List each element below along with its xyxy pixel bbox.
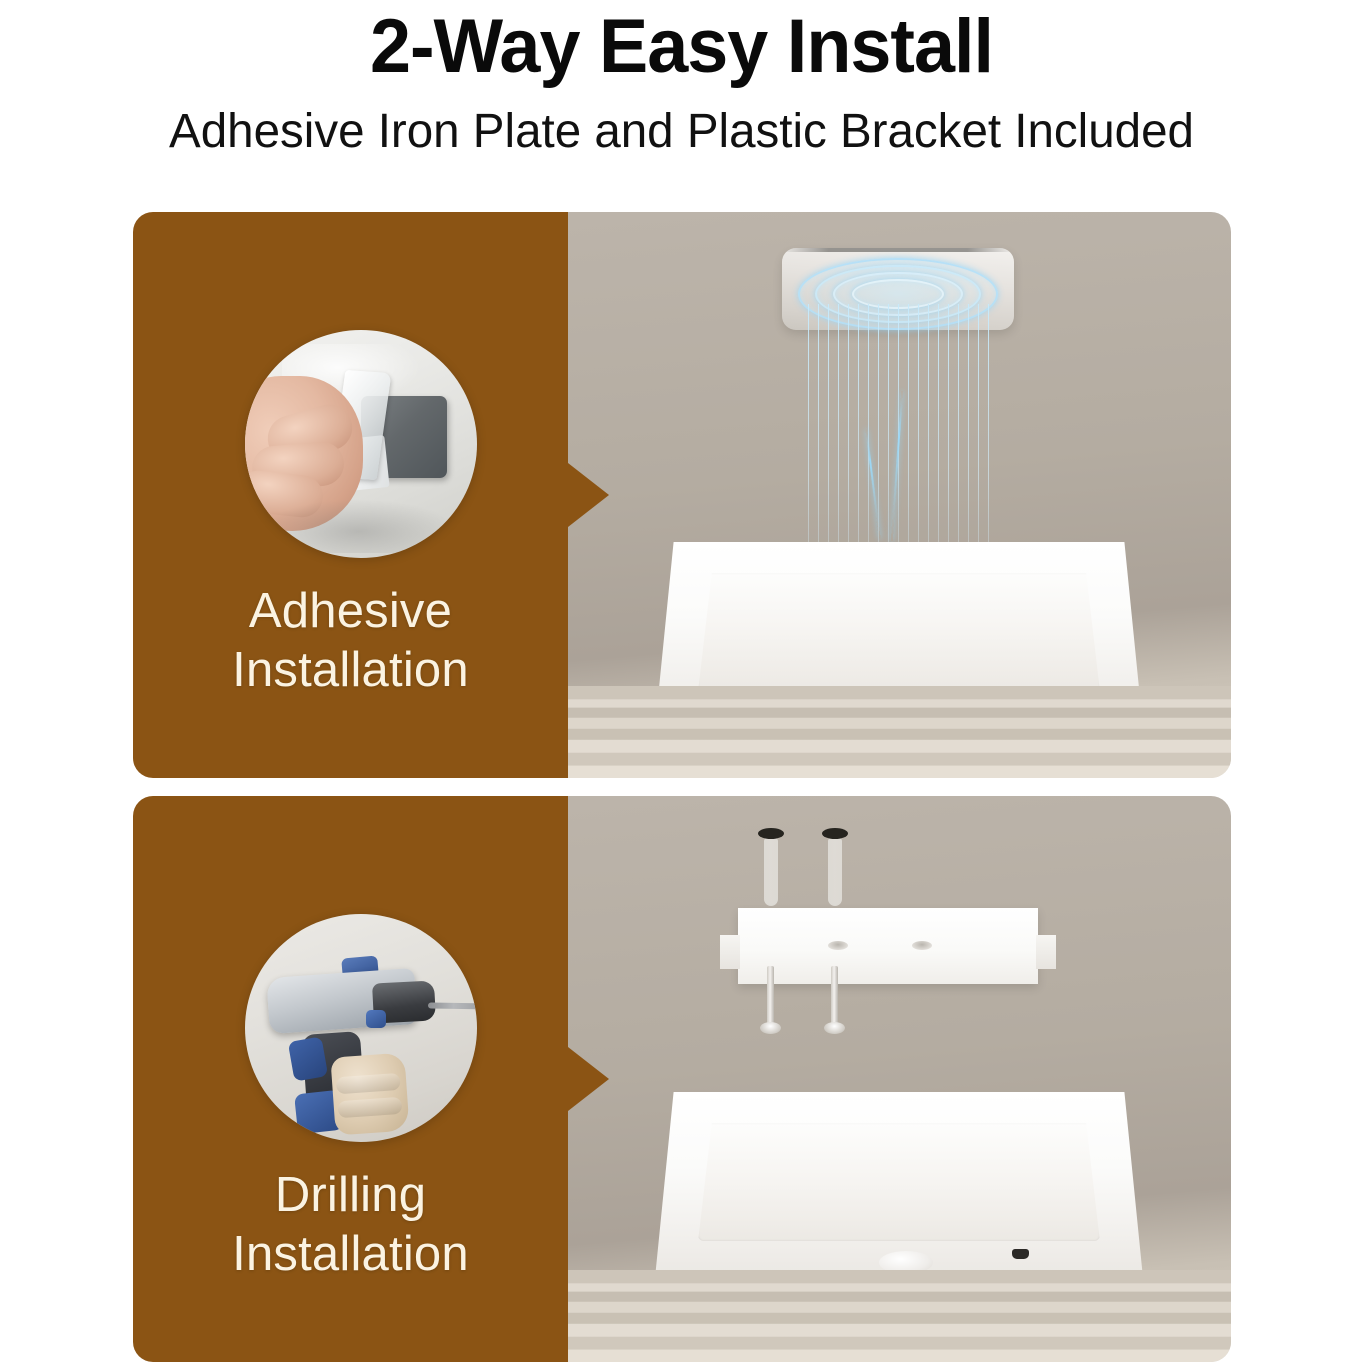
bracket-hole-right — [912, 941, 932, 950]
panel-adhesive-label-line1: Adhesive — [133, 582, 568, 641]
ceiling-crown-molding — [568, 1270, 1231, 1362]
infographic-header: 2-Way Easy Install Adhesive Iron Plate a… — [0, 0, 1363, 162]
page-subtitle: Adhesive Iron Plate and Plastic Bracket … — [7, 102, 1356, 162]
panel-adhesive-label-line2: Installation — [133, 641, 568, 700]
plastic-mounting-bracket — [738, 908, 1038, 984]
gloved-hand-graphic — [331, 1053, 410, 1136]
wall-anchor-left — [764, 838, 778, 906]
magnetic-arc-1 — [891, 391, 903, 541]
panel-drilling-scene — [568, 796, 1231, 1362]
panel-drilling-label-line1: Drilling — [133, 1166, 568, 1225]
arrow-right-icon — [568, 463, 609, 527]
wall-anchor-right — [828, 838, 842, 906]
hammer-drill-icon — [245, 914, 477, 1142]
panel-adhesive-scene — [568, 212, 1231, 778]
panel-drilling-left-block: Drilling Installation — [133, 796, 568, 1362]
drill-blue-accent-top — [366, 1010, 386, 1028]
panel-drilling-installation: Drilling Installation — [133, 796, 1231, 1362]
panel-drilling-label: Drilling Installation — [133, 1166, 568, 1284]
panel-drilling-label-line2: Installation — [133, 1225, 568, 1284]
drill-bit — [428, 1002, 477, 1009]
adhesive-plate-peel-icon — [245, 330, 477, 558]
ceiling-crown-molding — [568, 686, 1231, 778]
screw-left — [767, 966, 774, 1026]
fixture-diffuser — [698, 1123, 1100, 1241]
bracket-tab-right — [1036, 935, 1056, 969]
photo-shadow — [259, 499, 459, 554]
panel-adhesive-installation: Adhesive Installation — [133, 212, 1231, 778]
screw-right — [831, 966, 838, 1026]
arrow-right-icon — [568, 1047, 609, 1111]
page-title: 2-Way Easy Install — [20, 4, 1342, 90]
ir-sensor-window — [1012, 1249, 1029, 1259]
bracket-tab-left — [720, 935, 740, 969]
panel-adhesive-label: Adhesive Installation — [133, 582, 568, 700]
bracket-hole-left — [828, 941, 848, 950]
fixture-diffuser — [698, 573, 1100, 691]
panel-adhesive-left-block: Adhesive Installation — [133, 212, 568, 778]
led-ceiling-light — [654, 1092, 1144, 1288]
drill-blue-accent-mid — [288, 1037, 328, 1082]
